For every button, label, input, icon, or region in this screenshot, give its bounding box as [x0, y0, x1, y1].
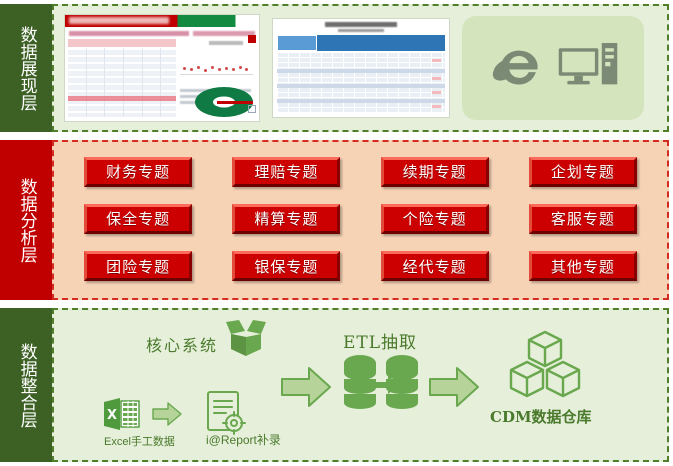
- arrow-right-icon: [428, 366, 480, 408]
- spreadsheet-report-thumbnail[interactable]: [272, 18, 450, 118]
- presentation-layer-panel: [52, 4, 669, 132]
- spreadsheet-alert-cell: [432, 91, 441, 94]
- presentation-layer-label: 数据展现层: [0, 4, 52, 132]
- data-cubes-icon: [506, 328, 584, 402]
- integration-layer-label: 数据整合层: [0, 308, 52, 462]
- spreadsheet-alert-cell: [432, 77, 441, 80]
- spreadsheet-grid: [277, 52, 445, 112]
- dashboard-header-title: [69, 17, 169, 24]
- spreadsheet-group-band: [277, 99, 445, 103]
- spreadsheet-corner-cell: [277, 35, 317, 51]
- topic-button-actuarial[interactable]: 精算专题: [232, 204, 340, 234]
- svg-text:X: X: [107, 408, 117, 423]
- integration-layer-row: 数据整合层 核心系统 ETL抽取 CDM数据仓库 Excel手工数据 i@Rep…: [0, 308, 669, 462]
- analysis-layer-row: 数据分析层 财务专题 理赔专题 续期专题 企划专题 保全专题 精算专题 个险专题…: [0, 140, 669, 300]
- topic-button-policy-service[interactable]: 保全专题: [84, 204, 192, 234]
- core-system-label: 核心系统: [146, 332, 218, 356]
- chart-axis: [180, 74, 253, 75]
- topic-button-planning[interactable]: 企划专题: [529, 157, 637, 187]
- dashboard-subtitle-left: [69, 31, 189, 36]
- warehouse-label: CDM数据仓库: [490, 406, 592, 427]
- document-gear-icon: [204, 390, 246, 436]
- dashboard-subtitle-right: [193, 31, 255, 36]
- dashboard-report-thumbnail[interactable]: [64, 14, 260, 122]
- dashboard-resize-icon[interactable]: [248, 105, 256, 113]
- topic-button-claims[interactable]: 理赔专题: [232, 157, 340, 187]
- spreadsheet-title: [325, 22, 397, 27]
- presentation-layer-row: 数据展现层: [0, 4, 669, 132]
- analysis-layer-label: 数据分析层: [0, 140, 52, 300]
- topic-button-finance[interactable]: 财务专题: [84, 157, 192, 187]
- topic-button-renewal[interactable]: 续期专题: [381, 157, 489, 187]
- arrow-right-icon: [152, 402, 182, 426]
- spreadsheet-alert-cell: [432, 59, 441, 62]
- dashboard-donut-pointer: [217, 101, 253, 104]
- dashboard-table-header: [68, 39, 176, 47]
- client-access-icons-panel: [462, 16, 644, 120]
- spreadsheet-subtitle: [338, 29, 384, 32]
- dashboard-close-icon[interactable]: [248, 35, 256, 43]
- topic-button-grid: 财务专题 理赔专题 续期专题 企划专题 保全专题 精算专题 个险专题 客服专题 …: [54, 142, 667, 298]
- spreadsheet-alert-cell: [432, 105, 441, 108]
- integration-layer-panel: 核心系统 ETL抽取 CDM数据仓库 Excel手工数据 i@Report补录 …: [52, 308, 669, 462]
- etl-label: ETL抽取: [343, 328, 417, 353]
- architecture-diagram: 数据展现层: [0, 0, 673, 466]
- arrow-right-icon: [280, 366, 332, 408]
- open-box-icon: [222, 318, 270, 360]
- excel-file-icon: X: [102, 394, 142, 434]
- dashboard-table-body: [68, 48, 176, 117]
- chart-legend: [209, 41, 243, 45]
- dashboard-line-chart: [180, 39, 253, 83]
- analysis-layer-panel: 财务专题 理赔专题 续期专题 企划专题 保全专题 精算专题 个险专题 客服专题 …: [52, 140, 669, 300]
- database-transfer-icon: [342, 352, 420, 424]
- topic-button-agency[interactable]: 经代专题: [381, 251, 489, 281]
- topic-button-individual-insurance[interactable]: 个险专题: [381, 204, 489, 234]
- excel-label: Excel手工数据: [104, 433, 175, 449]
- spreadsheet-group-band: [277, 69, 445, 73]
- desktop-computer-icon: [557, 40, 619, 96]
- internet-explorer-icon: [487, 37, 549, 99]
- topic-button-bancassurance[interactable]: 银保专题: [232, 251, 340, 281]
- topic-button-customer-service[interactable]: 客服专题: [529, 204, 637, 234]
- presentation-thumbnails: [54, 6, 667, 130]
- topic-button-group-insurance[interactable]: 团险专题: [84, 251, 192, 281]
- spreadsheet-group-band: [277, 84, 445, 88]
- data-flow-diagram: 核心系统 ETL抽取 CDM数据仓库 Excel手工数据 i@Report补录 …: [54, 310, 667, 460]
- topic-button-other[interactable]: 其他专题: [529, 251, 637, 281]
- dashboard-row-highlight: [68, 96, 176, 101]
- chart-series: [182, 61, 251, 73]
